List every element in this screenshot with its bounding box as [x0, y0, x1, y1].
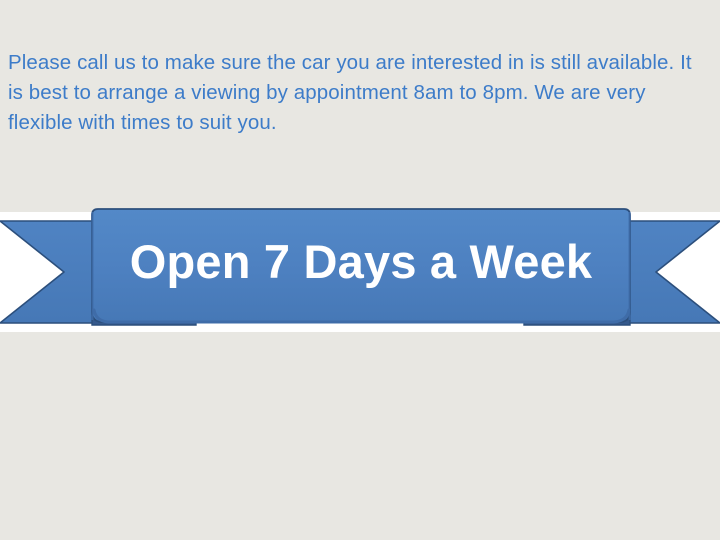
ribbon-right-tail — [620, 221, 720, 323]
ribbon-center-panel — [92, 209, 630, 322]
ribbon-left-tail-shape — [0, 221, 100, 323]
ribbon-banner: Open 7 Days a Week — [0, 200, 720, 336]
ribbon-right-tail-shape — [620, 221, 720, 323]
ribbon-graphic — [0, 200, 720, 336]
ribbon-left-tail — [0, 221, 100, 323]
notice-paragraph: Please call us to make sure the car you … — [8, 48, 708, 138]
slide-canvas: Please call us to make sure the car you … — [0, 0, 720, 540]
